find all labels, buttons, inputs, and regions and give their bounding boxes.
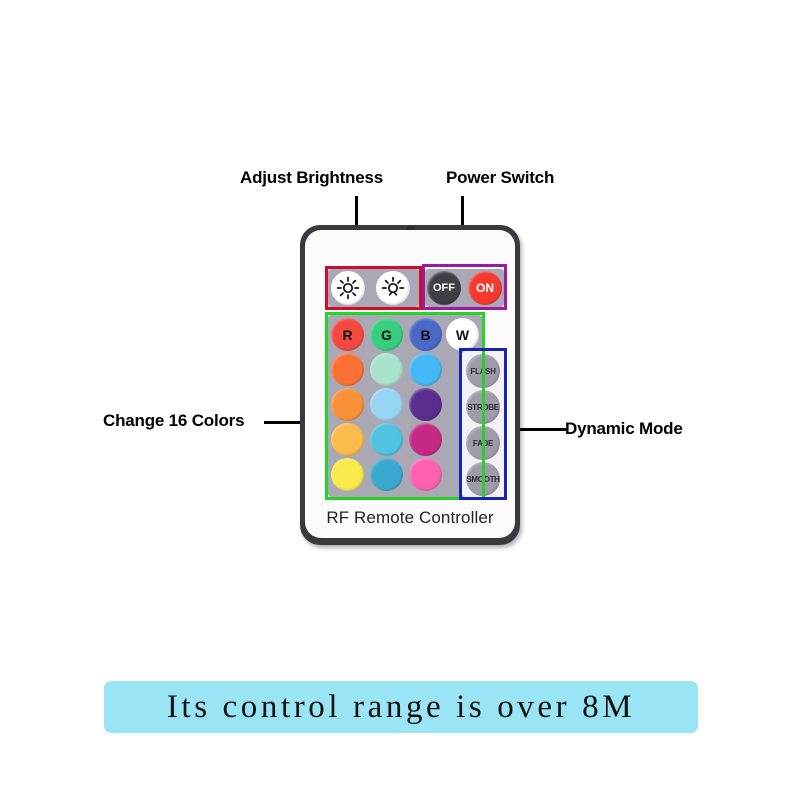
annotation-label-adjust-brightness: Adjust Brightness [240,168,383,188]
remote-caption: RF Remote Controller [305,508,515,528]
group-outline-adjust-brightness [325,266,422,310]
rf-remote-controller: OFF ON RGBW FLASHSTROBEFADESMOOTH RF Rem… [300,225,520,545]
group-outline-power-switch [422,264,507,310]
control-range-banner-text: Its control range is over 8M [167,689,635,726]
annotation-label-power-switch: Power Switch [446,168,554,188]
annotation-label-change-16-colors: Change 16 Colors [103,411,244,431]
control-range-banner: Its control range is over 8M [104,681,698,733]
remote-face-panel: OFF ON RGBW FLASHSTROBEFADESMOOTH RF Rem… [305,230,515,538]
annotation-label-dynamic-mode: Dynamic Mode [565,419,683,439]
group-outline-dynamic-mode [459,348,507,500]
